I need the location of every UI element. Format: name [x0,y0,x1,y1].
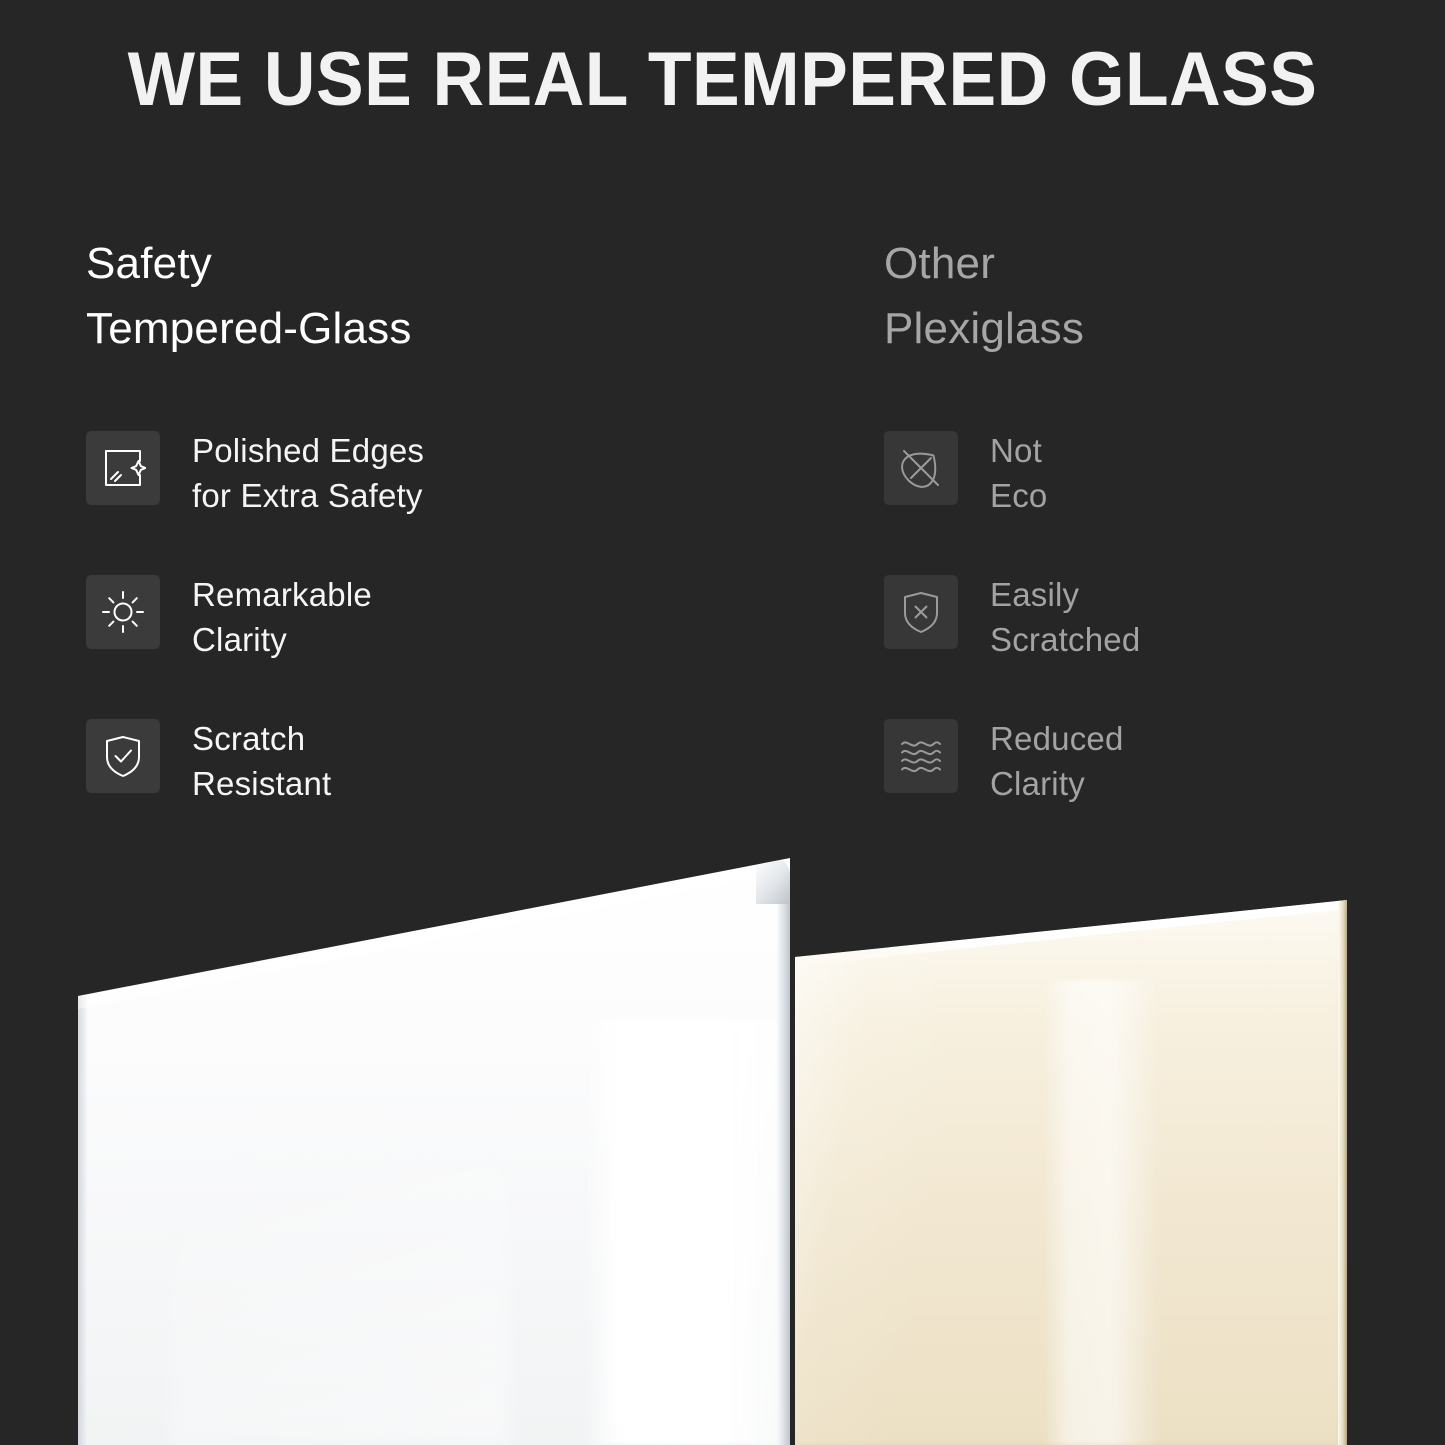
plexiglass-panel-reflection [1043,980,1161,1445]
product-panels-image [0,840,1445,1445]
feature-remarkable-clarity: Remarkable Clarity [86,571,846,715]
plexiglass-panel-right-edge [1338,900,1347,1445]
wavy-lines-blur-icon [884,719,958,793]
polished-edge-sparkle-icon [86,431,160,505]
feature-easily-scratched: Easily Scratched [884,571,1404,715]
feature-label-reduced-clarity: Reduced Clarity [990,715,1124,807]
tempered-glass-panel-top-edge [78,858,790,1018]
plexiglass-panel [795,900,1347,1445]
feature-list-other: Not Eco Easily Scratched [884,427,1404,859]
comparison-columns: Safety Tempered-Glass Polished Edges for… [0,232,1445,852]
feature-list-safety: Polished Edges for Extra Safety [86,427,846,859]
feature-scratch-resistant: Scratch Resistant [86,715,846,859]
feature-label-remarkable-clarity: Remarkable Clarity [192,571,372,663]
tempered-glass-panel-soft-reflection [170,1158,510,1445]
feature-label-easily-scratched: Easily Scratched [990,571,1140,663]
plexiglass-panel-top-edge [795,900,1347,970]
tempered-glass-panel-reflection [583,1020,779,1445]
feature-not-eco: Not Eco [884,427,1404,571]
tempered-glass-panel-corner [756,858,790,904]
page-title: WE USE REAL TEMPERED GLASS [43,42,1401,118]
shield-x-icon [884,575,958,649]
feature-label-not-eco: Not Eco [990,427,1047,519]
feature-label-polished-edges: Polished Edges for Extra Safety [192,427,424,519]
tempered-glass-panel-right-edge [777,872,790,1445]
column-heading-other: Other Plexiglass [884,232,1404,361]
column-other-plexiglass: Other Plexiglass Not Eco [884,232,1404,859]
column-safety-tempered-glass: Safety Tempered-Glass Polished Edges for… [86,232,846,859]
feature-label-scratch-resistant: Scratch Resistant [192,715,331,807]
leaf-slashed-icon [884,431,958,505]
feature-reduced-clarity: Reduced Clarity [884,715,1404,859]
feature-polished-edges: Polished Edges for Extra Safety [86,427,846,571]
shield-check-icon [86,719,160,793]
column-heading-safety: Safety Tempered-Glass [86,232,846,361]
sun-clarity-icon [86,575,160,649]
tempered-glass-panel-left-edge [78,996,87,1445]
tempered-glass-panel [78,858,790,1445]
